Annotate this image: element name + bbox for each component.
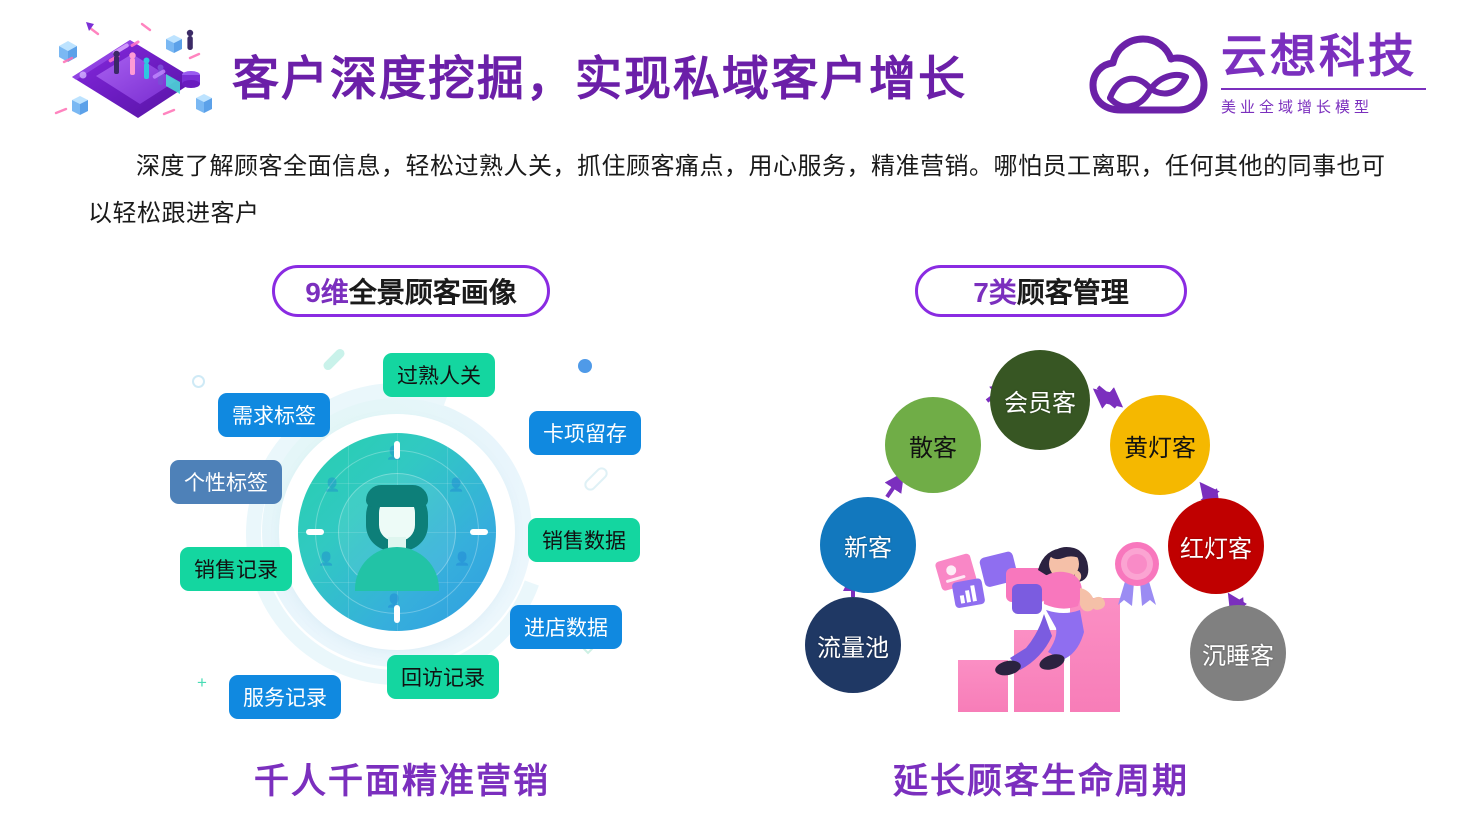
- lifecycle-node-4[interactable]: 黄灯客: [1110, 395, 1210, 495]
- isometric-phone-team-illustration: [34, 14, 234, 134]
- pill-left-accent: 9维: [305, 271, 349, 311]
- logo-text-wrap: 云想科技 美业全域增长模型: [1221, 26, 1436, 126]
- lifecycle-node-2[interactable]: 散客: [885, 397, 981, 493]
- profile-tag-8[interactable]: 服务记录: [229, 675, 341, 719]
- section-header-left: 9维 全景顾客画像: [272, 265, 550, 317]
- lifecycle-node-0[interactable]: 流量池: [805, 597, 901, 693]
- profile-tag-2[interactable]: 卡项留存: [529, 411, 641, 455]
- decor-capsule: [582, 465, 610, 493]
- lifecycle-node-6[interactable]: 沉睡客: [1190, 605, 1286, 701]
- profile-tag-0[interactable]: 过熟人关: [383, 353, 495, 397]
- profile-tag-3[interactable]: 个性标签: [170, 460, 282, 504]
- customer-lifecycle-panel: 流量池新客散客会员客黄灯客红灯客沉睡客: [780, 335, 1340, 735]
- cloud-infinity-logo-icon: [1088, 30, 1213, 120]
- pill-left-rest: 全景顾客画像: [349, 271, 517, 311]
- lifecycle-node-1[interactable]: 新客: [820, 497, 916, 593]
- lead-paragraph: 深度了解顾客全面信息，轻松过熟人关，抓住顾客痛点，用心服务，精准营销。哪怕员工离…: [88, 143, 1408, 237]
- avatar-fringe: [366, 485, 428, 507]
- slide-canvas: 客户深度挖掘，实现私域客户增长 云想科技 美业全域增长模型 深度了解顾客全面信息…: [0, 0, 1475, 824]
- section-header-right: 7类 顾客管理: [915, 265, 1187, 317]
- profile-tag-7[interactable]: 回访记录: [387, 655, 499, 699]
- decor-dash-green: [322, 347, 347, 372]
- decor-dot-blue: [578, 359, 592, 373]
- lifecycle-node-5[interactable]: 红灯客: [1168, 498, 1264, 594]
- profile-tag-1[interactable]: 需求标签: [218, 393, 330, 437]
- customer-profile-panel: + 👤 👤 👤 👤 👤 👤: [150, 335, 670, 735]
- logo-name: 云想科技: [1221, 26, 1436, 86]
- logo-tagline: 美业全域增长模型: [1221, 96, 1436, 117]
- caption-left: 千人千面精准营销: [254, 753, 550, 804]
- profile-tag-4[interactable]: 销售数据: [528, 518, 640, 562]
- brand-logo: 云想科技 美业全域增长模型: [1088, 26, 1438, 131]
- profile-tag-5[interactable]: 销售记录: [180, 547, 292, 591]
- page-title: 客户深度挖掘，实现私域客户增长: [232, 40, 967, 109]
- slide-header: 客户深度挖掘，实现私域客户增长 云想科技 美业全域增长模型: [0, 0, 1475, 135]
- profile-tag-6[interactable]: 进店数据: [510, 605, 622, 649]
- caption-right: 延长顾客生命周期: [893, 753, 1189, 804]
- decor-ring: [192, 375, 205, 388]
- decor-plus: +: [197, 673, 207, 693]
- lifecycle-node-3[interactable]: 会员客: [990, 350, 1090, 450]
- radar-core: 👤 👤 👤 👤 👤 👤: [298, 433, 496, 631]
- pill-right-rest: 顾客管理: [1017, 271, 1129, 311]
- person-climbing-bar-chart-illustration: [930, 510, 1190, 715]
- pill-right-accent: 7类: [973, 271, 1017, 311]
- logo-divider: [1221, 88, 1426, 90]
